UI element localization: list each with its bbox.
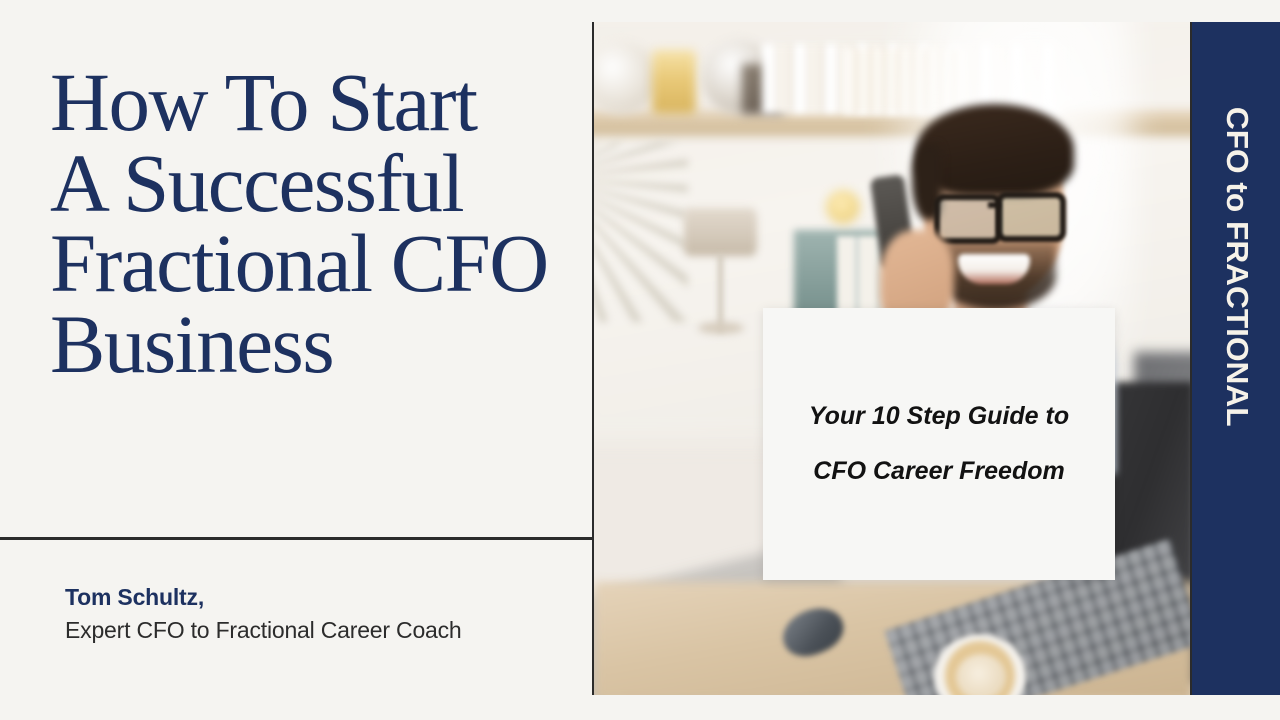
subtitle-line-1: Your 10 Step Guide to bbox=[809, 404, 1069, 429]
headline-line-4: Business bbox=[50, 304, 770, 385]
horizontal-rule bbox=[0, 537, 592, 540]
subtitle-card: Your 10 Step Guide to CFO Career Freedom bbox=[763, 308, 1115, 580]
subtitle-line-2: CFO Career Freedom bbox=[813, 459, 1064, 484]
accent-lamp-icon bbox=[826, 190, 860, 224]
brand-sidebar: CFO to FRACTIONAL bbox=[1190, 22, 1280, 695]
author-block: Tom Schultz, Expert CFO to Fractional Ca… bbox=[65, 584, 462, 644]
headline-line-1: How To Start bbox=[50, 62, 770, 143]
author-name: Tom Schultz, bbox=[65, 584, 462, 611]
coffee-mug-inner bbox=[956, 654, 1006, 695]
page-title: How To Start A Successful Fractional CFO… bbox=[50, 62, 770, 384]
presentation-slide: Your 10 Step Guide to CFO Career Freedom… bbox=[0, 0, 1280, 720]
author-role: Expert CFO to Fractional Career Coach bbox=[65, 617, 462, 644]
headline-line-3: Fractional CFO bbox=[50, 223, 770, 304]
headline-line-2: A Successful bbox=[50, 143, 770, 224]
glasses-bridge-icon bbox=[988, 202, 1000, 208]
brand-label-wrapper: CFO to FRACTIONAL bbox=[1192, 110, 1280, 610]
glasses-right-lens-icon bbox=[996, 192, 1066, 242]
smile bbox=[958, 254, 1030, 284]
brand-label: CFO to FRACTIONAL bbox=[1219, 107, 1255, 427]
